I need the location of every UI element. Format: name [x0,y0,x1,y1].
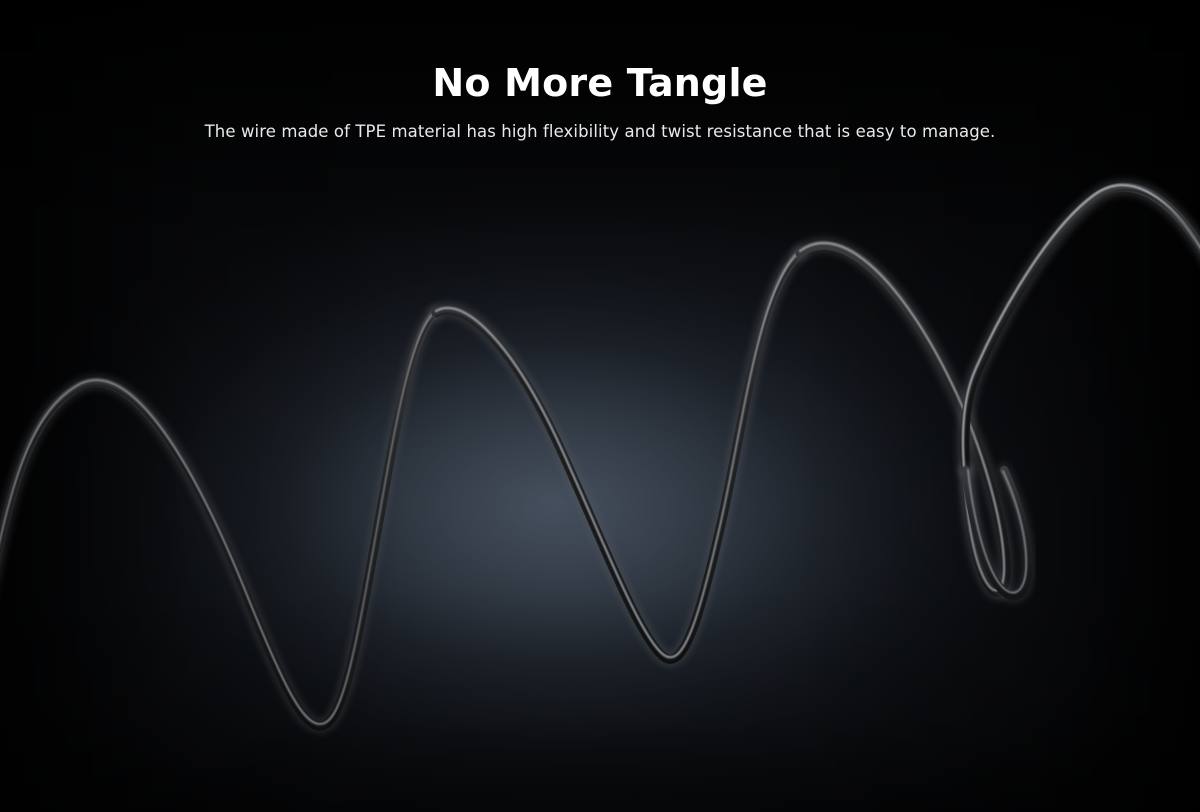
banner-text-block: No More Tangle The wire made of TPE mate… [0,0,1200,142]
cable-segment-left [0,311,436,730]
cable-segment-middle [436,251,800,663]
cable-segment-loop-rise [963,185,1200,473]
page-title: No More Tangle [0,0,1200,104]
page-subtitle: The wire made of TPE material has high f… [0,104,1200,142]
promo-banner: No More Tangle The wire made of TPE mate… [0,0,1200,812]
